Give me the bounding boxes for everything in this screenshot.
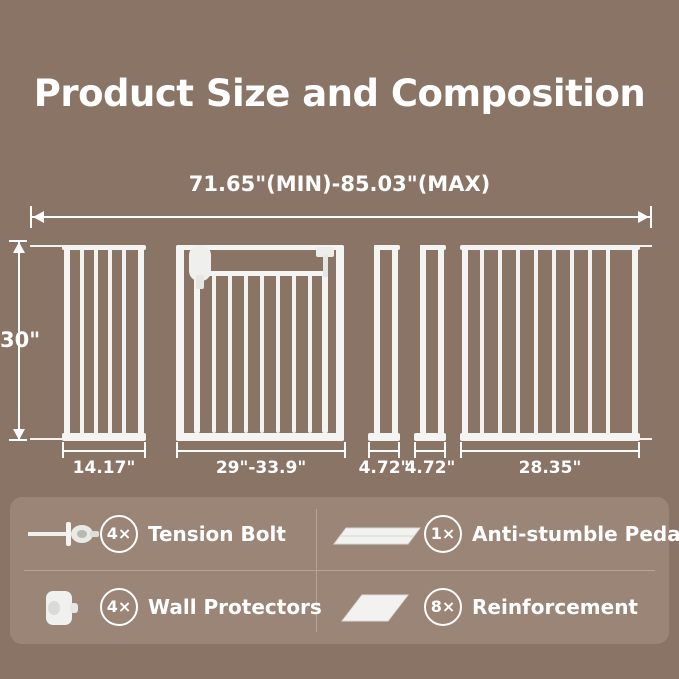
part-item-reinforcement: 8× Reinforcement [328, 570, 638, 643]
seg5-left-tick [460, 442, 462, 458]
door-top-latch-pin [323, 255, 328, 277]
dimension-diagram: 71.65"(MIN)-85.03"(MAX) 30" [0, 150, 679, 490]
door-inner-frame-right [322, 271, 328, 433]
height-bottom-tick [9, 439, 27, 441]
overall-width-label: 71.65"(MIN)-85.03"(MAX) [0, 172, 679, 196]
panel-left-post [462, 245, 468, 441]
reinforcement-qty: 8× [424, 588, 462, 626]
panel-top-rail [460, 245, 640, 250]
seg4-left-tick [414, 442, 416, 458]
door-bar [292, 274, 296, 433]
panel-bar [588, 248, 592, 436]
overall-width-right-arrowhead [638, 211, 649, 223]
tension-bolt-qty: 4× [100, 515, 138, 553]
small-ext-right-post [438, 245, 444, 437]
height-top-arrowhead [13, 242, 25, 253]
seg4-right-tick [444, 442, 446, 458]
panel-bar [498, 248, 502, 436]
height-label: 30" [0, 328, 40, 352]
seg2-left-tick [176, 442, 178, 458]
panel-bar [108, 248, 112, 436]
panel-left-post [64, 245, 70, 441]
wall-protector-name: Wall Protectors [148, 595, 322, 619]
panel-bar [80, 248, 84, 436]
panel-right-post [138, 245, 144, 441]
door-bottom-rail [176, 433, 344, 441]
segment-label-gate-door: 29"-33.9" [201, 458, 321, 478]
part-item-wall-protectors: 4× Wall Protectors [26, 570, 322, 643]
anti-stumble-pedal-qty: 1× [424, 515, 462, 553]
panel-bar [94, 248, 98, 436]
anti-stumble-pedal-name: Anti-stumble Pedal [472, 522, 679, 546]
seg5-right-tick [638, 442, 640, 458]
panel-bar [570, 248, 574, 436]
small-ext-right-post [392, 245, 398, 437]
small-ext-left-post [374, 245, 380, 437]
height-top-tick [9, 240, 27, 242]
panel-bottom-rail [460, 433, 640, 441]
door-bar [260, 274, 264, 433]
parts-list-panel: 4× Tension Bolt 1× Anti-stumble Pedal [10, 497, 669, 644]
seg3-right-tick [398, 442, 400, 458]
overall-width-left-tick [30, 206, 32, 228]
page-title: Product Size and Composition [0, 72, 679, 115]
panel-bottom-rail [62, 433, 146, 441]
seg3-line [368, 450, 400, 452]
panel-bar [480, 248, 484, 436]
segment-label-small-ext-2: 4.72" [393, 458, 467, 478]
seg5-line [460, 450, 640, 452]
seg2-right-tick [344, 442, 346, 458]
panel-right-post [632, 245, 638, 441]
part-item-tension-bolt: 4× Tension Bolt [26, 497, 286, 570]
seg1-right-tick [144, 442, 146, 458]
door-outer-left-post [176, 245, 184, 441]
seg3-left-tick [368, 442, 370, 458]
reinforcement-name: Reinforcement [472, 595, 638, 619]
gate-panel-small-ext-2 [414, 245, 446, 441]
panel-bar [516, 248, 520, 436]
reinforcement-icon [328, 577, 424, 637]
part-item-anti-stumble-pedal: 1× Anti-stumble Pedal [328, 497, 679, 570]
seg1-left-tick [62, 442, 64, 458]
wall-protector-qty: 4× [100, 588, 138, 626]
overall-width-arrow-line [30, 216, 652, 218]
door-bar [276, 274, 280, 433]
panel-bar [606, 248, 610, 436]
wall-protector-icon [26, 577, 100, 637]
anti-stumble-pedal-icon [328, 504, 424, 564]
door-bar [244, 274, 248, 433]
product-size-composition-graphic: Product Size and Composition 71.65"(MIN)… [0, 0, 679, 679]
panel-bar [534, 248, 538, 436]
seg2-line [176, 450, 346, 452]
gate-panel-small-ext-1 [368, 245, 400, 441]
segment-label-right-extension: 28.35" [500, 458, 600, 478]
segment-label-left-extension: 14.17" [54, 458, 154, 478]
panel-top-rail [62, 245, 146, 250]
seg4-line [414, 450, 446, 452]
panel-bar [122, 248, 126, 436]
panel-bar [552, 248, 556, 436]
door-outer-right-post [336, 245, 344, 441]
door-latch-stem [196, 275, 204, 289]
small-ext-left-post [420, 245, 426, 437]
overall-width-left-arrowhead [33, 211, 44, 223]
tension-bolt-name: Tension Bolt [148, 522, 286, 546]
door-bar [228, 274, 232, 433]
door-bar [308, 274, 312, 433]
gate-panel-left-extension [62, 245, 146, 441]
tension-bolt-icon [26, 504, 100, 564]
gate-panel-right-extension [460, 245, 640, 441]
gate-panel-door [176, 245, 346, 441]
door-bar [212, 274, 216, 433]
door-inner-frame-left [194, 271, 200, 433]
seg1-line [62, 450, 146, 452]
overall-width-right-tick [650, 206, 652, 228]
